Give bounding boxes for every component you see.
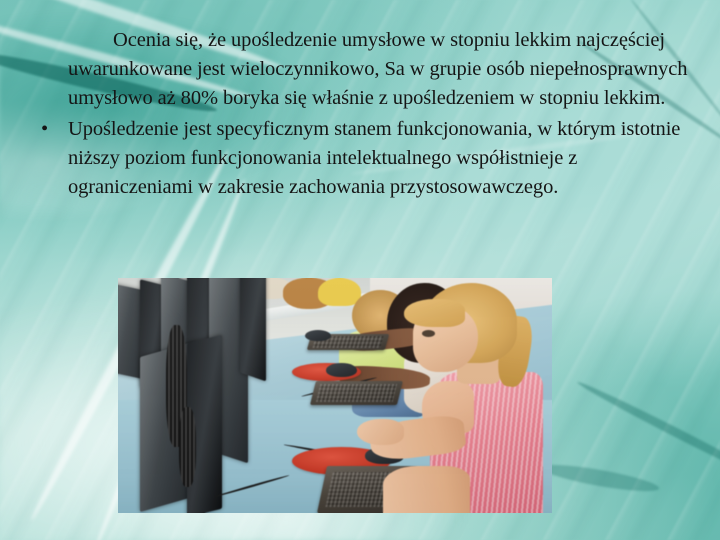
paragraph-bullet: • Upośledzenie jest specyficznym stanem … <box>0 115 720 202</box>
paragraph-intro: Ocenia się, że upośledzenie umysłowe w s… <box>0 26 720 113</box>
bullet-point-icon: • <box>41 115 48 144</box>
background-vein-9 <box>540 460 661 497</box>
children-at-computers-photo <box>118 278 552 513</box>
presentation-slide: Ocenia się, że upośledzenie umysłowe w s… <box>0 0 720 540</box>
photo-softening-overlay <box>118 278 552 513</box>
paragraph-bullet-text: Upośledzenie jest specyficznym stanem fu… <box>68 118 680 198</box>
slide-text-block: Ocenia się, że upośledzenie umysłowe w s… <box>0 26 720 202</box>
